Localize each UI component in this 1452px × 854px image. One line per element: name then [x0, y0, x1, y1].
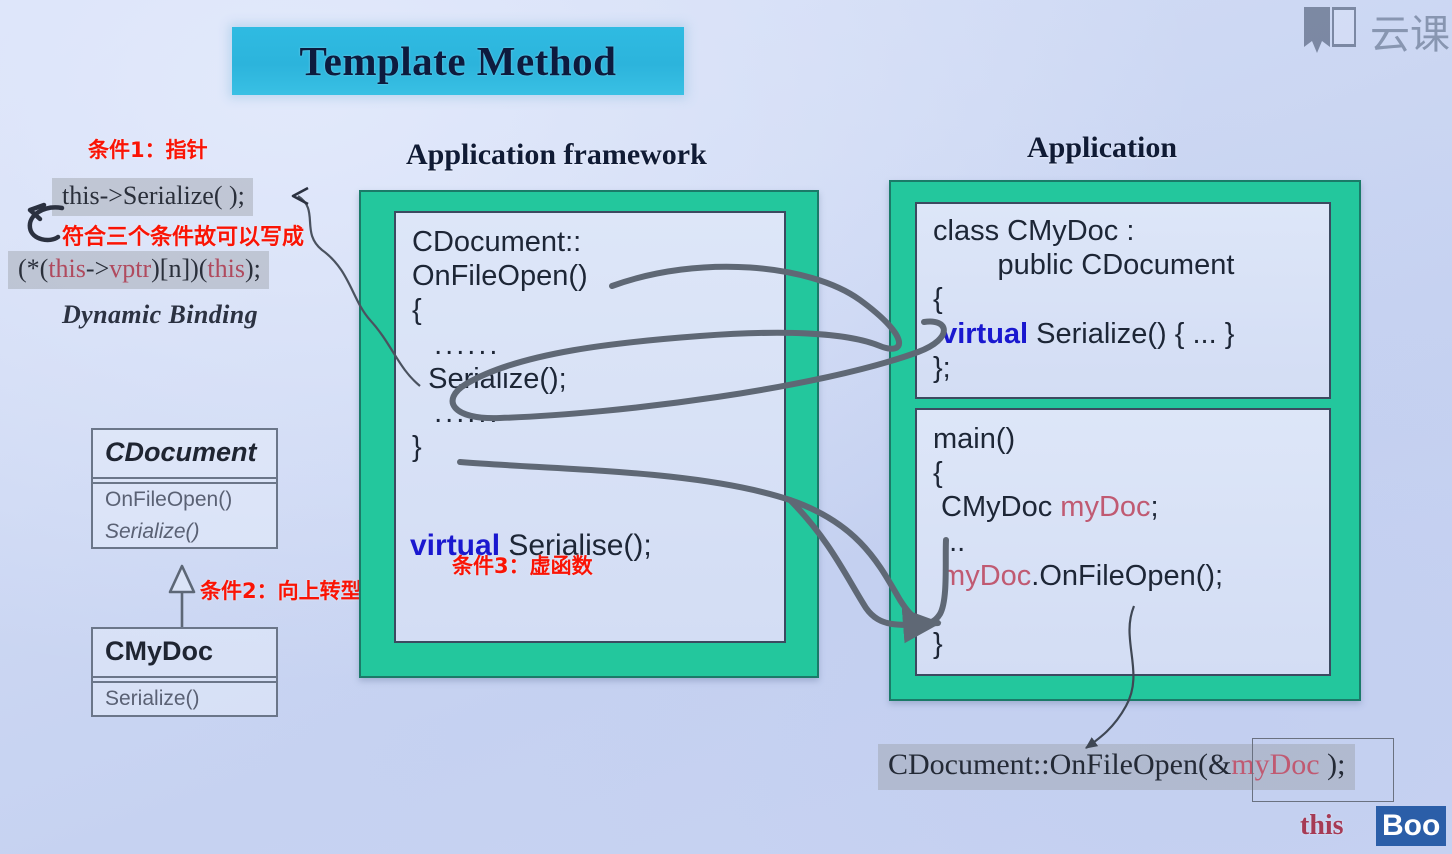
annotation-condition-1: 条件1：指针 — [88, 134, 208, 164]
slide-canvas: 云课 Template Method Application framework… — [0, 0, 1452, 854]
callout-pre: CDocument::OnFileOpen(& — [888, 748, 1231, 781]
watermark-text: 云课 — [1370, 2, 1450, 60]
callout-post: ); — [1320, 748, 1346, 781]
code-snippet-vptr-dispatch: (*(this->vptr)[n])(this); — [8, 251, 269, 289]
book-icon — [1300, 3, 1362, 59]
code-snippet-this-serialize: this->Serialize( ); — [52, 178, 253, 216]
class-code-block: class CMyDoc : public CDocument { virtua… — [933, 214, 1234, 385]
fw-line-5: Serialize(); — [412, 363, 567, 395]
connector-arrowhead-left — [293, 188, 308, 204]
main-line-3-end: ; — [1151, 491, 1159, 523]
fw-line-3: { — [412, 294, 422, 326]
main-line-4: ... — [933, 526, 965, 558]
uml-method: OnFileOpen() — [93, 484, 276, 516]
main-line-3-pre: CMyDoc — [933, 491, 1060, 523]
uml-cmydoc-methods: Serialize() — [93, 681, 276, 715]
uml-class-cmydoc: CMyDoc Serialize() — [91, 627, 278, 717]
uml-generalization-arrow — [170, 566, 194, 627]
framework-code-block: CDocument:: OnFileOpen() { ...... Serial… — [412, 225, 588, 465]
annotation-condition-3: 条件3：虚函数 — [452, 550, 593, 580]
uml-cdocument-name: CDocument — [93, 430, 276, 477]
vptr-this-1: this — [48, 254, 86, 283]
application-frame: class CMyDoc : public CDocument { virtua… — [889, 180, 1361, 701]
fw-line-6: ...... — [412, 397, 500, 429]
fw-line-2: OnFileOpen() — [412, 260, 588, 292]
main-var-mydoc: myDoc — [1060, 491, 1150, 523]
annotation-three-conditions: 符合三个条件故可以写成 — [62, 219, 304, 251]
main-line-5-end: .OnFileOpen(); — [1031, 560, 1223, 592]
annotation-condition-2: 条件2：向上转型 — [200, 575, 362, 605]
vptr-pre: (*( — [18, 254, 48, 283]
main-function-panel: main() { CMyDoc myDoc; ... myDoc.OnFileO… — [915, 408, 1331, 676]
cls-virtual-signature: Serialize() { ... } — [1028, 318, 1234, 350]
fw-line-4: ...... — [412, 329, 500, 361]
page-title: Template Method — [232, 27, 684, 95]
page-title-text: Template Method — [300, 37, 617, 85]
boolan-badge: Boo — [1376, 806, 1446, 846]
main-line-2: { — [933, 457, 943, 489]
callout-var-mydoc: myDoc — [1231, 748, 1319, 781]
vptr-this-2: this — [207, 254, 245, 283]
uml-class-cdocument: CDocument OnFileOpen() Serialize() — [91, 428, 278, 549]
main-var-mydoc-call: myDoc — [933, 560, 1031, 592]
main-line-6: } — [933, 628, 943, 660]
label-dynamic-binding: Dynamic Binding — [62, 300, 258, 330]
main-line-1: main() — [933, 423, 1015, 455]
heading-application-framework: Application framework — [406, 138, 707, 172]
cls-line-3: { — [933, 283, 943, 315]
fw-line-1: CDocument:: — [412, 226, 581, 258]
uml-method: Serialize() — [93, 683, 276, 715]
cls-line-2: public CDocument — [933, 249, 1234, 281]
main-code-block: main() { CMyDoc myDoc; ... myDoc.OnFileO… — [933, 422, 1223, 662]
bottom-callout-onfileopen: CDocument::OnFileOpen(&myDoc ); — [878, 744, 1355, 790]
vptr-end: ); — [245, 254, 261, 283]
keyword-virtual: virtual — [941, 318, 1028, 350]
vptr-arrow: -> — [86, 254, 109, 283]
application-framework-frame: CDocument:: OnFileOpen() { ...... Serial… — [359, 190, 819, 678]
watermark-logo: 云课 — [1300, 2, 1450, 60]
cls-line-5: }; — [933, 352, 951, 384]
cls-line-1: class CMyDoc : — [933, 215, 1134, 247]
fw-line-7: } — [412, 431, 422, 463]
uml-method: Serialize() — [93, 516, 276, 548]
vptr-vptr: vptr — [109, 254, 151, 283]
class-definition-panel: class CMyDoc : public CDocument { virtua… — [915, 202, 1331, 399]
vptr-mid: )[n])( — [151, 254, 207, 283]
label-this: this — [1300, 810, 1344, 842]
heading-application: Application — [1027, 131, 1177, 165]
uml-cdocument-methods: OnFileOpen() Serialize() — [93, 482, 276, 547]
uml-cmydoc-name: CMyDoc — [93, 629, 276, 676]
